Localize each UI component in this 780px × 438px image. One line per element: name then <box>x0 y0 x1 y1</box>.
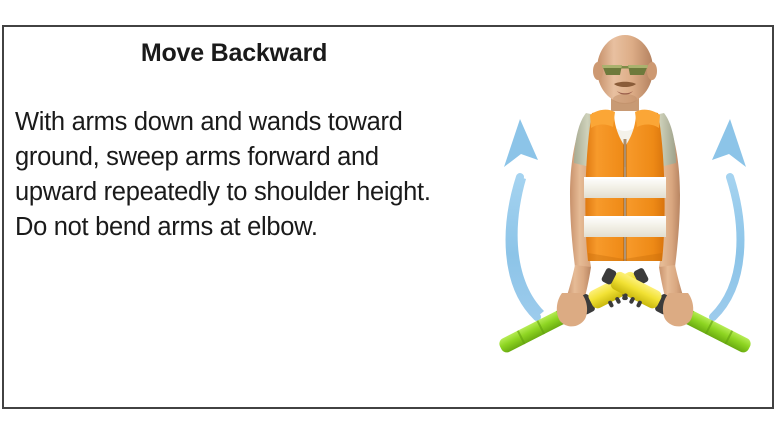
right-hand <box>663 293 693 326</box>
left-hand <box>557 293 587 326</box>
instruction-card: Move Backward With arms down and wands t… <box>2 25 774 409</box>
head <box>593 35 657 104</box>
sweep-arrow-left-icon <box>504 119 544 317</box>
text-column: Move Backward With arms down and wands t… <box>4 27 474 407</box>
sweep-arrow-right-icon <box>712 119 746 317</box>
marshaller-illustration <box>474 27 774 409</box>
slide-canvas: Move Backward With arms down and wands t… <box>0 0 780 438</box>
page-title: Move Backward <box>4 39 464 68</box>
instruction-body-text: With arms down and wands toward ground, … <box>15 105 463 245</box>
